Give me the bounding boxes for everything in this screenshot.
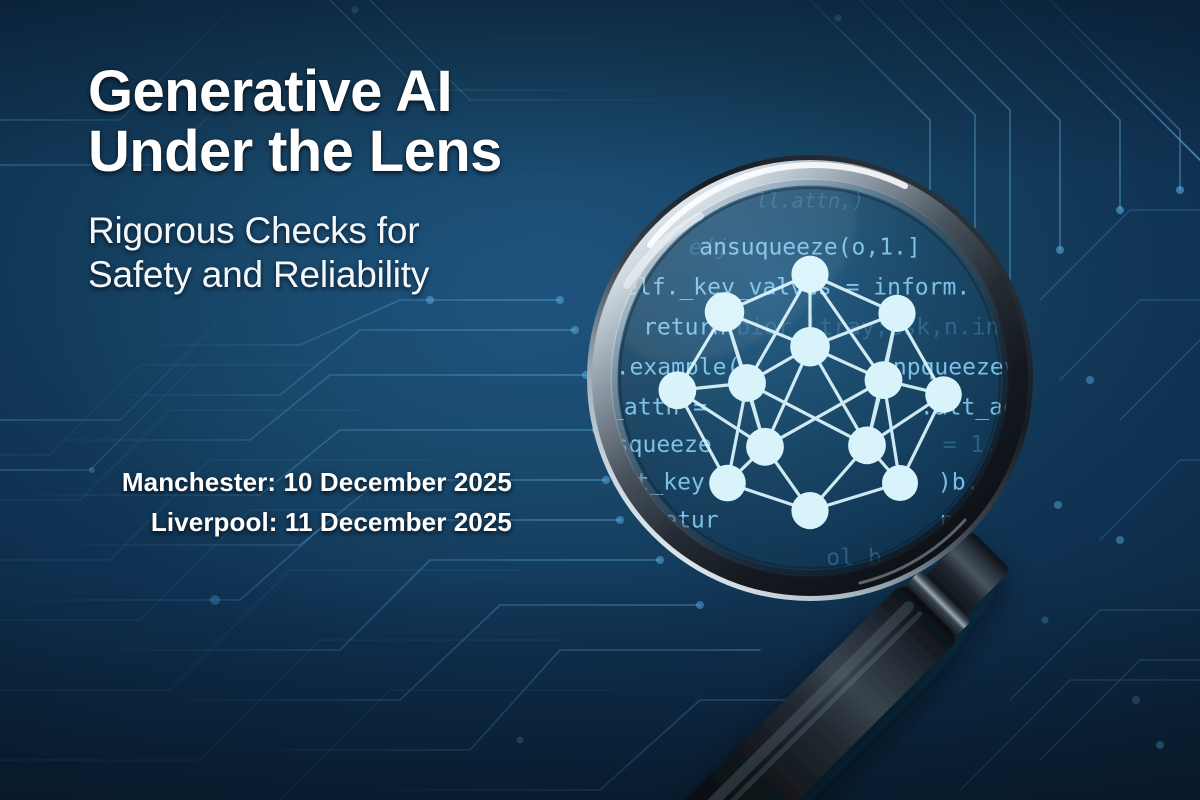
page-subtitle: Rigorous Checks for Safety and Reliabili…: [88, 209, 628, 296]
event-date-liverpool: Liverpool: 11 December 2025: [88, 502, 512, 542]
lens-content: ll.attn,)e/j.ansuqueeze(o,1.]self._key_v…: [579, 127, 1042, 721]
page-title: Generative AI Under the Lens: [88, 62, 628, 181]
magnifier-lens: ll.attn,)e/j.ansuqueeze(o,1.]self._key_v…: [579, 127, 1042, 721]
event-dates-block: Manchester: 10 December 2025 Liverpool: …: [88, 462, 512, 543]
headline-block: Generative AI Under the Lens Rigorous Ch…: [88, 62, 628, 296]
poster-canvas: ll.attn,)e/j.ansuqueeze(o,1.]self._key_v…: [0, 0, 1200, 800]
event-date-manchester: Manchester: 10 December 2025: [88, 462, 512, 502]
